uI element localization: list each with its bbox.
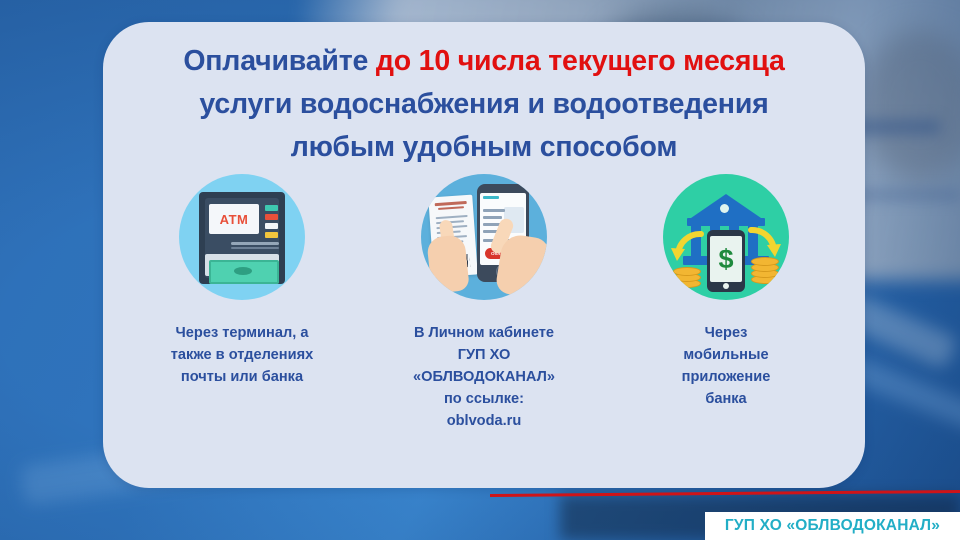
content-card: Оплачивайте до 10 числа текущего месяца … [103,22,865,488]
left-hand [426,234,470,294]
app-logo-bar [483,196,499,199]
page-title: Оплачивайте до 10 числа текущего месяца … [131,40,837,169]
coin [673,267,701,276]
headline-line1-prefix: Оплачивайте [183,45,376,77]
infographic-slide: Оплачивайте до 10 числа текущего месяца … [0,0,960,540]
payment-method-terminal-caption: Через терминал, а также в отделениях поч… [171,322,313,388]
bank-entablature [687,218,765,226]
bank-roof-emblem [720,204,729,213]
bank-mobile-payment-icon: $ [663,174,789,300]
atm-card-slot [231,247,279,249]
atm-screen: ATM [209,204,259,234]
atm-machine-icon: ATM [179,174,305,300]
coin [751,257,779,266]
atm-button-teal [265,205,278,211]
organization-badge: ГУП ХО «ОБЛВОДОКАНАЛ» [705,512,960,540]
receipt-text-line [436,215,468,219]
mobile-payment-phone: $ [707,230,745,292]
dollar-sign-icon: $ [718,246,733,273]
mobile-payment-screen: $ [710,236,742,282]
payment-method-personal-account-caption: В Личном кабинете ГУП ХО «ОБЛВОДОКАНАЛ» … [413,322,555,432]
mobile-payment-home-button [723,283,729,289]
payment-method-personal-account: Оплатить В Личном кабинете ГУП ХО «ОБЛВО… [368,174,600,432]
headline-line1-accent: до 10 числа текущего месяца [376,45,785,77]
payment-methods-row: ATM Через терминал, а также в отделениях… [121,174,847,432]
coin-stack-left [673,266,703,288]
arrow-left-icon [671,230,705,264]
atm-screen-label: ATM [220,212,249,227]
app-text-line [483,216,502,219]
atm-button-white [265,223,278,229]
atm-button-yellow [265,232,278,238]
hand-phone-receipt-icon: Оплатить [421,174,547,300]
organization-badge-label: ГУП ХО «ОБЛВОДОКАНАЛ» [725,517,940,535]
payment-method-mobile-bank-caption: Через мобильные приложение банка [682,322,771,410]
headline-line2: услуги водоснабжения и водоотведения [199,88,768,120]
atm-keypad-line [231,242,279,245]
atm-banknote [209,260,279,284]
receipt-subtitle-line [438,206,464,210]
headline-line3: любым удобным способом [291,131,678,163]
arrow-right-icon [747,226,781,260]
app-text-line [483,209,505,212]
coin-stack-right [751,262,781,284]
atm-button-red [265,214,278,220]
payment-method-terminal: ATM Через терминал, а также в отделениях… [126,174,358,388]
payment-method-mobile-bank: $ Через мо [610,174,842,410]
